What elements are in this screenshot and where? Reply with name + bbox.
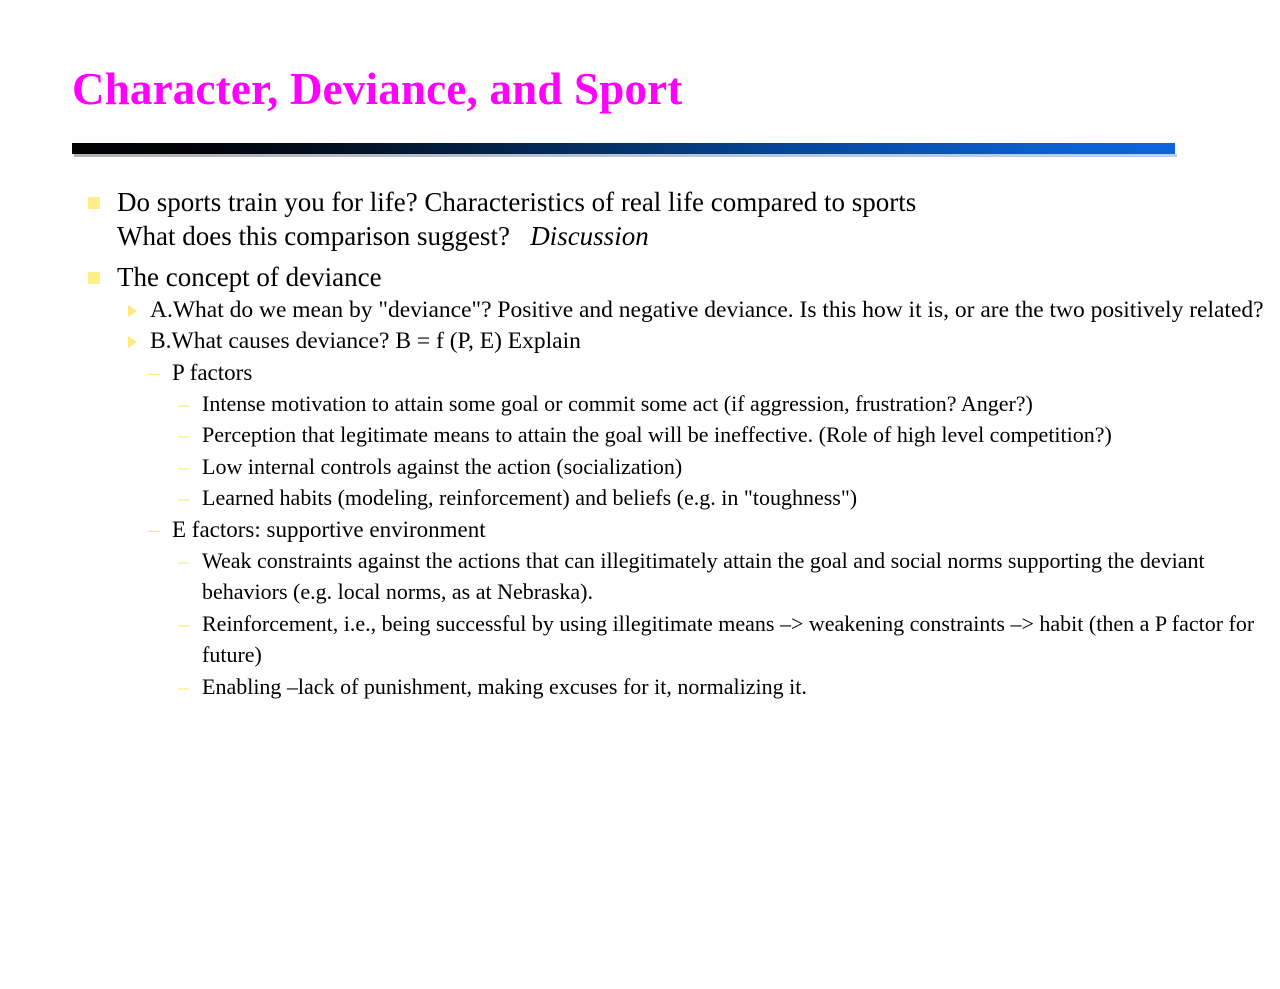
bullet-level2-item-a: A.What do we mean by "deviance"? Positiv… (0, 295, 1280, 326)
bullet-text: The concept of deviance (117, 261, 1280, 295)
bullet-text: E factors: supportive environment (172, 514, 1280, 545)
dash-bullet-icon: – (178, 545, 189, 577)
bullet-text: Learned habits (modeling, reinforcement)… (202, 482, 1280, 514)
dash-bullet-icon: – (178, 482, 189, 514)
title-block: Character, Deviance, and Sport (72, 62, 1182, 116)
bullet-level4-p-item-2: – Perception that legitimate means to at… (0, 419, 1280, 451)
bullet-text: Perception that legitimate means to atta… (202, 419, 1280, 451)
dash-bullet-icon: – (178, 388, 189, 420)
dash-bullet-icon: – (178, 451, 189, 483)
bullet-text: P factors (172, 357, 1280, 388)
bullet-text: A.What do we mean by "deviance"? Positiv… (150, 295, 1280, 326)
bullet-text-line2: What does this comparison suggest? Discu… (117, 220, 1280, 254)
dash-bullet-icon: – (178, 671, 189, 703)
spacer (0, 253, 1280, 261)
bullet-text: Low internal controls against the action… (202, 451, 1280, 483)
page-title: Character, Deviance, and Sport (72, 62, 1182, 116)
bullet-level4-e-item-2: – Reinforcement, i.e., being successful … (0, 608, 1280, 671)
bullet-text: Reinforcement, i.e., being successful by… (202, 608, 1280, 671)
bullet-text: Do sports train you for life? Characteri… (117, 186, 1280, 220)
bullet-level2-item-b: B.What causes deviance? B = f (P, E) Exp… (0, 326, 1280, 357)
bullet-level3-e-factors: – E factors: supportive environment (0, 514, 1280, 545)
bullet-level4-p-item-1: – Intense motivation to attain some goal… (0, 388, 1280, 420)
bullet-text: Enabling –lack of punishment, making exc… (202, 671, 1280, 703)
triangle-bullet-icon (128, 336, 137, 348)
bullet-level1-sports-train: Do sports train you for life? Characteri… (0, 186, 1280, 253)
title-divider-gradient-bar (72, 143, 1175, 154)
slide: Character, Deviance, and Sport Do sports… (0, 0, 1280, 989)
bullet-text: B.What causes deviance? B = f (P, E) Exp… (150, 326, 1280, 357)
square-bullet-icon (88, 272, 100, 284)
dash-bullet-icon: – (178, 419, 189, 451)
dash-bullet-icon: – (148, 514, 160, 545)
bullet-text-line2-emphasis: Discussion (530, 221, 649, 251)
triangle-bullet-icon (128, 305, 137, 317)
bullet-text-line2-plain: What does this comparison suggest? (117, 221, 530, 251)
bullet-level4-e-item-1: – Weak constraints against the actions t… (0, 545, 1280, 608)
dash-bullet-icon: – (148, 357, 160, 388)
bullet-level4-e-item-3: – Enabling –lack of punishment, making e… (0, 671, 1280, 703)
square-bullet-icon (88, 197, 100, 209)
bullet-text: Weak constraints against the actions tha… (202, 545, 1280, 608)
title-divider-shadow (74, 154, 1177, 157)
bullet-level1-concept-of-deviance: The concept of deviance (0, 261, 1280, 295)
slide-body: Do sports train you for life? Characteri… (0, 186, 1280, 702)
bullet-level4-p-item-4: – Learned habits (modeling, reinforcemen… (0, 482, 1280, 514)
bullet-level4-p-item-3: – Low internal controls against the acti… (0, 451, 1280, 483)
bullet-text: Intense motivation to attain some goal o… (202, 388, 1280, 420)
dash-bullet-icon: – (178, 608, 189, 640)
bullet-level3-p-factors: – P factors (0, 357, 1280, 388)
